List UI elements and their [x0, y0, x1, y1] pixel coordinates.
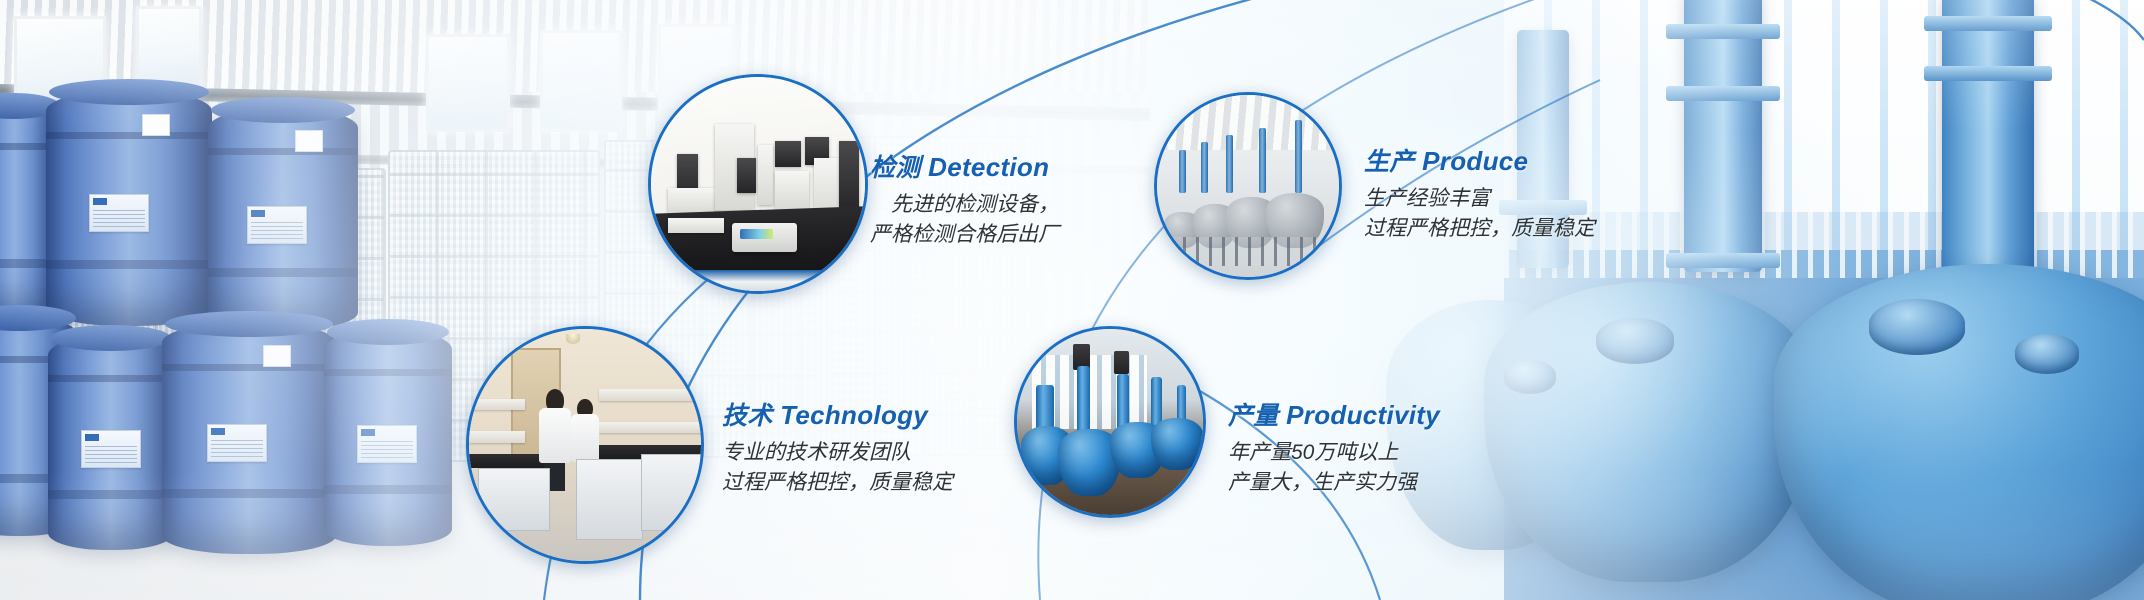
feature-block-productivity: 产量 Productivity 年产量50万吨以上 产量大，生产实力强 [1228, 396, 1440, 498]
heading-en: Detection [928, 152, 1049, 182]
heading-en: Technology [780, 400, 928, 430]
feature-line: 专业的技术研发团队 [722, 438, 953, 468]
feature-block-technology: 技术 Technology 专业的技术研发团队 过程严格把控，质量稳定 [722, 396, 953, 498]
feature-line: 生产经验丰富 [1364, 184, 1595, 214]
feature-line: 产量大，生产实力强 [1228, 468, 1440, 498]
feature-line: 先进的检测设备， [870, 190, 1059, 220]
circle-image-detection[interactable] [648, 74, 868, 294]
feature-heading-technology: 技术 Technology [722, 396, 953, 432]
feature-block-detection: 检测 Detection 先进的检测设备， 严格检测合格后出厂 [870, 148, 1059, 250]
circle-image-productivity[interactable] [1014, 326, 1206, 518]
circle-image-technology[interactable] [466, 326, 704, 564]
feature-line: 年产量50万吨以上 [1228, 438, 1440, 468]
heading-en: Produce [1422, 146, 1528, 176]
heading-cn: 生产 [1364, 148, 1415, 176]
heading-en: Productivity [1286, 400, 1440, 430]
heading-cn: 产量 [1228, 402, 1279, 430]
heading-cn: 检测 [870, 154, 921, 182]
circle-image-produce[interactable] [1154, 92, 1342, 280]
arc-upper [640, 0, 2144, 600]
feature-heading-productivity: 产量 Productivity [1228, 396, 1440, 432]
heading-cn: 技术 [722, 402, 773, 430]
feature-line: 严格检测合格后出厂 [870, 220, 1059, 250]
feature-heading-produce: 生产 Produce [1364, 142, 1595, 178]
feature-line: 过程严格把控，质量稳定 [722, 468, 953, 498]
factory-capability-banner: 检测 Detection 先进的检测设备， 严格检测合格后出厂 生产 Produ… [0, 0, 2144, 600]
feature-heading-detection: 检测 Detection [870, 148, 1059, 184]
feature-block-produce: 生产 Produce 生产经验丰富 过程严格把控，质量稳定 [1364, 142, 1595, 244]
feature-line: 过程严格把控，质量稳定 [1364, 214, 1595, 244]
